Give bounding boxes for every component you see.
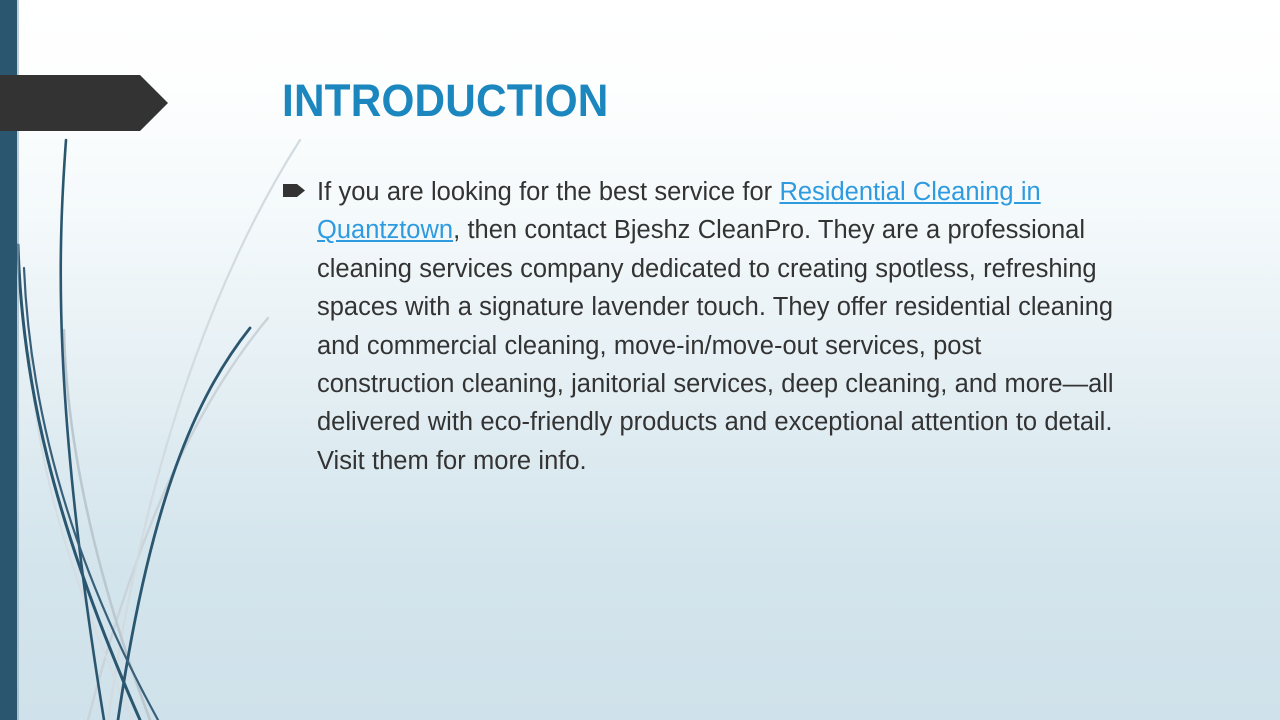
presentation-slide: INTRODUCTION If you are looking for the … xyxy=(0,0,1280,720)
pennant-arrow-bullet-icon xyxy=(283,184,305,197)
body-paragraph: If you are looking for the best service … xyxy=(317,173,1121,480)
title-arrow-banner xyxy=(0,75,168,131)
slide-body: If you are looking for the best service … xyxy=(283,173,1121,480)
body-text-before-link: If you are looking for the best service … xyxy=(317,178,779,206)
list-item: If you are looking for the best service … xyxy=(283,173,1121,480)
body-text-after-link: , then contact Bjeshz CleanPro. They are… xyxy=(317,216,1114,474)
page-title: INTRODUCTION xyxy=(282,72,1128,130)
